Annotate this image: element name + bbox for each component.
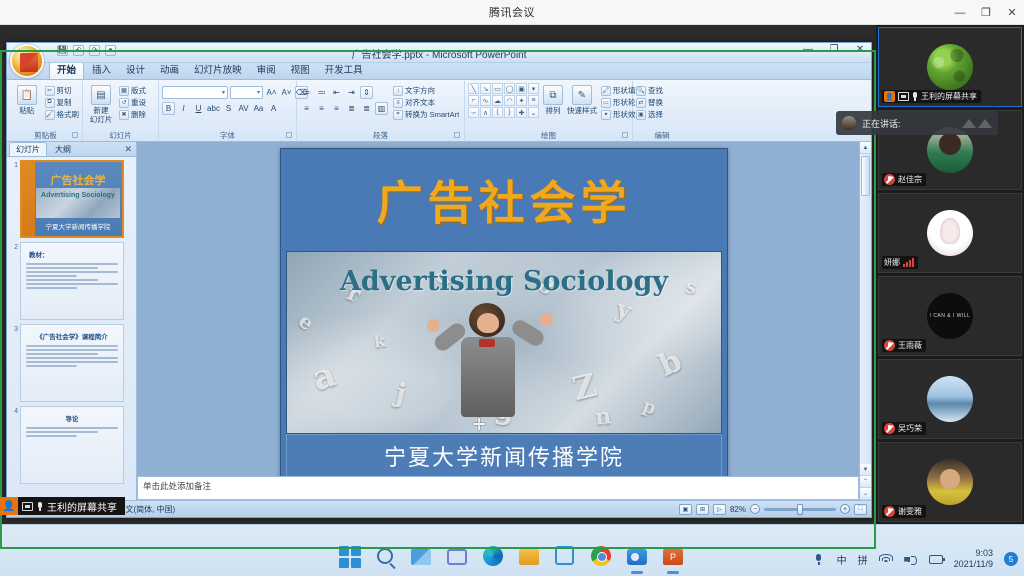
- scroll-down-button[interactable]: ▼: [860, 464, 871, 476]
- copy-label: 复制: [57, 97, 72, 108]
- thumbnail-item[interactable]: 1 广告社会学 Advertising Sociology 宁夏大学新闻传播学院: [9, 160, 134, 238]
- battery-button[interactable]: [929, 552, 943, 566]
- system-tray: 中 拼 9:03 2021/11/9 5: [812, 548, 1018, 570]
- shape-effects-icon: ✦: [601, 110, 611, 120]
- layout-label: 版式: [131, 85, 146, 96]
- wifi-button[interactable]: [879, 552, 893, 566]
- quick-access-toolbar: 💾 ↶ ↷ ▾: [57, 45, 116, 56]
- store-icon: [555, 546, 574, 565]
- participant-name-badge: 👤 王利的屏幕共享: [882, 90, 981, 103]
- signal-strength-icon: [903, 258, 914, 267]
- new-slide-button[interactable]: ▤ 新建 幻灯片: [86, 83, 116, 124]
- reset-icon: ↺: [119, 98, 129, 108]
- font-color-button[interactable]: A: [267, 102, 280, 115]
- thumb-title: 广告社会学: [38, 172, 118, 188]
- clipboard-group-text: 剪贴板: [34, 131, 57, 140]
- chevron-down-icon: ▾: [257, 89, 260, 96]
- scroll-up-button[interactable]: ▲: [860, 142, 871, 154]
- tab-slides[interactable]: 幻灯片: [9, 142, 47, 156]
- participant-name-badge: 谢雯雅: [882, 505, 926, 518]
- slide-subtitle-text: Advertising Sociology: [287, 266, 721, 297]
- align-right-button[interactable]: ≡: [330, 102, 343, 115]
- task-view-icon: [411, 549, 431, 565]
- participant-name: 妍娜: [884, 257, 900, 268]
- powerpoint-button[interactable]: P: [663, 546, 685, 568]
- slides-group-text: 幻灯片: [109, 131, 132, 140]
- tab-developer[interactable]: 开发工具: [318, 63, 370, 79]
- powerpoint-window: 广告社会学.pptx - Microsoft PowerPoint — ❐ ✕ …: [6, 42, 872, 518]
- delete-icon: ✖: [119, 110, 129, 120]
- participant-tile[interactable]: 👤 王利的屏幕共享: [878, 27, 1022, 107]
- mic-on-icon: [37, 502, 43, 511]
- tab-insert[interactable]: 插入: [85, 63, 118, 79]
- find-label: 查找: [648, 85, 663, 96]
- tencent-meeting-button[interactable]: [627, 546, 649, 568]
- font-size-combo[interactable]: ▾: [230, 86, 263, 99]
- fit-to-window-button[interactable]: ⛶: [854, 504, 867, 515]
- zoom-slider-knob[interactable]: [797, 504, 803, 515]
- font-name-combo[interactable]: ▾: [162, 86, 228, 99]
- shape-outline-icon: ▭: [601, 98, 611, 108]
- shapes-scroll-icon[interactable]: ≡: [528, 95, 539, 106]
- line-spacing-button[interactable]: ⇕: [360, 86, 373, 99]
- screen-share-icon: [898, 92, 909, 101]
- thumb-heading: 《广告社会学》课程简介: [21, 331, 123, 341]
- shape-plus-icon[interactable]: ✚: [516, 107, 527, 118]
- align-text-icon: ≡: [393, 98, 403, 108]
- shared-screen-stage: 广告社会学.pptx - Microsoft PowerPoint — ❐ ✕ …: [0, 25, 876, 524]
- previous-slide-button[interactable]: ⌃: [860, 476, 871, 488]
- align-left-button[interactable]: ≡: [300, 102, 313, 115]
- replace-label: 替换: [648, 97, 663, 108]
- office-logo-icon: [20, 53, 38, 72]
- slide-footer-placeholder[interactable]: 宁夏大学新闻传播学院: [286, 434, 722, 478]
- align-center-button[interactable]: ≡: [315, 102, 328, 115]
- meeting-maximize-button[interactable]: ❐: [980, 6, 992, 19]
- drawing-dialog-launcher-icon[interactable]: [622, 132, 628, 138]
- shape-arc-icon[interactable]: ◠: [504, 95, 515, 106]
- editing-group-label: 编辑: [636, 130, 688, 141]
- host-icon: 👤: [0, 497, 18, 515]
- format-painter-icon: 🖌: [45, 110, 55, 120]
- taskbar-icons: P: [339, 546, 685, 568]
- tencent-meeting-window: 腾讯会议 — ❐ ✕ 广告社会学.pptx - Microsoft PowerP…: [0, 0, 1024, 576]
- font-dialog-launcher-icon[interactable]: [286, 132, 292, 138]
- slideshow-button[interactable]: ▷: [713, 504, 726, 515]
- thumb-subtitle: Advertising Sociology: [36, 192, 120, 199]
- tab-design[interactable]: 设计: [119, 63, 152, 79]
- volume-button[interactable]: [904, 552, 918, 566]
- tencent-meeting-icon: [627, 549, 647, 565]
- windows-taskbar: 👤 王利的屏幕共享: [0, 524, 1024, 576]
- thumbnail-number: 2: [9, 242, 18, 320]
- windows-icon: [339, 546, 361, 568]
- text-direction-label: 文字方向: [405, 85, 435, 96]
- font-group-label: 字体: [162, 130, 293, 141]
- host-icon: 👤: [884, 91, 895, 102]
- ribbon: 📋 粘贴 ✂ 剪切 ⧉ 复制: [7, 80, 871, 142]
- powerpoint-icon: P: [663, 549, 683, 565]
- status-bar-right: ▣ ⊞ ▷ 82% − + ⛶: [679, 504, 867, 515]
- redo-icon[interactable]: ↷: [89, 45, 100, 56]
- layout-icon: ▦: [119, 86, 129, 96]
- participant-tile[interactable]: 谢雯雅: [878, 442, 1022, 522]
- slide-footer-text: 宁夏大学新闻传播学院: [384, 440, 624, 472]
- text-direction-button[interactable]: ↕ 文字方向: [393, 85, 459, 96]
- copy-icon: ⧉: [45, 98, 55, 108]
- close-panel-icon[interactable]: ✕: [124, 144, 132, 155]
- mic-icon: [815, 554, 822, 565]
- thumbnail-slide-2[interactable]: 教材：: [20, 242, 124, 320]
- powerpoint-workspace: 幻灯片 大纲 ✕ 1 广告社会学: [7, 142, 871, 500]
- edge-icon: [483, 546, 503, 566]
- shadow-button[interactable]: S: [222, 102, 235, 115]
- new-slide-icon: ▤: [91, 85, 111, 105]
- justify-button[interactable]: ≣: [345, 102, 358, 115]
- format-painter-button[interactable]: 🖌 格式刷: [45, 109, 80, 120]
- shape-arrow-icon[interactable]: ↘: [480, 83, 491, 94]
- ribbon-group-paragraph: ≔ ≕ ⇤ ⇥ ⇕ ≡ ≡ ≡ ≣: [297, 81, 465, 141]
- powerpoint-status-bar: 幻灯片 1/29 "Office 主题" 中文(简体, 中国) ▣ ⊞ ▷ 82…: [7, 500, 871, 517]
- tab-view[interactable]: 视图: [284, 63, 317, 79]
- ribbon-group-drawing: ╲ ↘ ▭ ◯ ▣ ▾ ⌐ ∿ ☁ ◠ ✦ ≡: [465, 81, 633, 141]
- ribbon-group-font: ▾ ▾ A˄ A˅ ⌫ B: [159, 81, 297, 141]
- cut-icon: ✂: [45, 86, 55, 96]
- quote-avatar: I CAN & I WILL: [927, 293, 973, 339]
- notes-placeholder-text: 单击此处添加备注: [143, 480, 211, 492]
- notes-pane[interactable]: 单击此处添加备注: [137, 476, 859, 500]
- current-slide[interactable]: 广告社会学 a r j q g 8 Z y b: [280, 148, 728, 485]
- format-painter-label: 格式刷: [57, 109, 80, 120]
- start-button[interactable]: [339, 546, 361, 568]
- meeting-window-controls: — ❐ ✕: [954, 0, 1018, 25]
- clipboard-dialog-launcher-icon[interactable]: [72, 132, 78, 138]
- slide-sorter-button[interactable]: ⊞: [696, 504, 709, 515]
- arrange-label: 排列: [546, 106, 561, 115]
- cut-label: 剪切: [57, 85, 72, 96]
- delete-label: 删除: [131, 109, 146, 120]
- shapes-gallery[interactable]: ╲ ↘ ▭ ◯ ▣ ▾ ⌐ ∿ ☁ ◠ ✦ ≡: [468, 83, 539, 118]
- powerpoint-window-controls: — ❐ ✕: [801, 44, 867, 55]
- thumbnail-item[interactable]: 3 《广告社会学》课程简介: [9, 324, 134, 402]
- powerpoint-document-title: 广告社会学.pptx - Microsoft PowerPoint: [7, 46, 871, 61]
- next-slide-button[interactable]: ⌄: [860, 488, 871, 500]
- search-icon: [377, 548, 393, 564]
- scrollbar-bottom-buttons: ▼ ⌃ ⌄: [860, 464, 871, 500]
- participant-name-badge: 妍娜: [882, 256, 918, 269]
- slide-vertical-scrollbar[interactable]: ▲ ▼ ⌃ ⌄: [859, 142, 871, 500]
- search-icon: 🔍: [636, 86, 646, 96]
- slides-group-label: 幻灯片: [86, 130, 155, 141]
- participant-name: 赵佳宗: [898, 174, 922, 185]
- convert-smartart-label: 转换为 SmartArt: [405, 109, 459, 120]
- participant-name-badge: 王雨薇: [882, 339, 926, 352]
- language-indicator[interactable]: 中文(简体, 中国): [117, 504, 175, 515]
- mic-muted-icon: [884, 340, 895, 351]
- shape-brace-right-icon[interactable]: ): [504, 107, 515, 118]
- thumbnail-slide-1[interactable]: 广告社会学 Advertising Sociology 宁夏大学新闻传播学院: [20, 160, 124, 238]
- zoom-level: 82%: [730, 505, 746, 514]
- normal-view-button[interactable]: ▣: [679, 504, 692, 515]
- shape-oval-icon[interactable]: ◯: [504, 83, 515, 94]
- screen-share-indicator[interactable]: 👤 王利的屏幕共享: [0, 497, 125, 515]
- participant-tile[interactable]: I CAN & I WILL 王雨薇: [878, 276, 1022, 356]
- clock-date: 2021/11/9: [954, 559, 993, 570]
- mic-on-icon: [912, 92, 918, 101]
- participant-tile[interactable]: 吴巧荣: [878, 359, 1022, 439]
- file-explorer-icon: [519, 549, 539, 565]
- shape-fill-icon: 🖍: [601, 86, 611, 96]
- meeting-app-title: 腾讯会议: [489, 4, 535, 20]
- numbering-button[interactable]: ≕: [315, 86, 328, 99]
- speaking-toast: 正在讲话:: [836, 111, 998, 135]
- speaking-indicator-icon: [962, 119, 992, 128]
- thumb-body: 教材：: [21, 243, 123, 319]
- text-direction-icon: ↕: [393, 86, 403, 96]
- battery-icon: [929, 555, 943, 564]
- slide-thumbnail-panel: 幻灯片 大纲 ✕ 1 广告社会学: [7, 142, 137, 500]
- replace-icon: ⇄: [636, 98, 646, 108]
- change-case-button[interactable]: Aa: [252, 102, 265, 115]
- teams-chat-icon: [447, 549, 467, 565]
- slide-title-text: 广告社会学: [377, 167, 632, 233]
- thumb-footer: 宁夏大学新闻传播学院: [36, 221, 120, 231]
- reset-label: 重设: [131, 97, 146, 108]
- cut-button[interactable]: ✂ 剪切: [45, 85, 80, 96]
- shape-elbow-icon[interactable]: ⌐: [468, 95, 479, 106]
- paste-label: 粘贴: [19, 106, 34, 115]
- reset-button[interactable]: ↺ 重设: [119, 97, 146, 108]
- participant-tile[interactable]: 妍娜: [878, 193, 1022, 273]
- ime-mode-indicator[interactable]: 中: [837, 552, 847, 567]
- thumbnail-item[interactable]: 2 教材：: [9, 242, 134, 320]
- drawing-group-text: 绘图: [541, 131, 556, 140]
- shape-line-icon[interactable]: ╲: [468, 83, 479, 94]
- store-button[interactable]: [555, 546, 577, 568]
- new-slide-label: 新建 幻灯片: [90, 106, 113, 124]
- thumb-lines: [26, 427, 118, 437]
- ribbon-group-clipboard: 📋 粘贴 ✂ 剪切 ⧉ 复制: [9, 81, 83, 141]
- dress-avatar: [927, 210, 973, 256]
- paste-icon: 📋: [17, 85, 37, 105]
- wifi-icon: [879, 554, 893, 565]
- edge-button[interactable]: [483, 546, 505, 568]
- arrange-button[interactable]: ⧉ 排列: [543, 83, 563, 115]
- clipboard-group-label: 剪贴板: [12, 130, 79, 141]
- shape-freeform-icon[interactable]: ∽: [468, 107, 479, 118]
- ppt-maximize-button[interactable]: ❐: [827, 44, 841, 55]
- shape-rect-icon[interactable]: ▭: [492, 83, 503, 94]
- editing-group-text: 编辑: [655, 131, 670, 140]
- clock-time: 9:03: [954, 548, 993, 559]
- speaker-icon: [904, 554, 917, 565]
- shape-brace-left-icon[interactable]: (: [492, 107, 503, 118]
- quick-styles-icon: ✎: [572, 85, 592, 105]
- increase-font-size-icon[interactable]: A˄: [265, 86, 278, 99]
- speaking-toast-text: 正在讲话:: [862, 117, 901, 130]
- search-button[interactable]: [375, 546, 397, 568]
- thumb-heading: 导论: [21, 413, 123, 423]
- decrease-indent-button[interactable]: ⇤: [330, 86, 343, 99]
- slide-editing-area[interactable]: 广告社会学 a r j q g 8 Z y b: [137, 142, 871, 500]
- slide-image[interactable]: a r j q g 8 Z y b s e k: [286, 251, 722, 434]
- bullets-button[interactable]: ≔: [300, 86, 313, 99]
- increase-indent-button[interactable]: ⇥: [345, 86, 358, 99]
- arrange-icon: ⧉: [543, 85, 563, 105]
- italic-button[interactable]: I: [177, 102, 190, 115]
- thumb-accent-strip: [22, 162, 35, 236]
- tab-home[interactable]: 开始: [49, 62, 84, 79]
- thumb-body: 《广告社会学》课程简介: [21, 325, 123, 401]
- thumbnail-list[interactable]: 1 广告社会学 Advertising Sociology 宁夏大学新闻传播学院: [7, 157, 136, 500]
- save-icon[interactable]: 💾: [57, 45, 68, 56]
- slide-title-placeholder[interactable]: 广告社会学: [287, 153, 721, 247]
- participant-name-badge: 吴巧荣: [882, 422, 926, 435]
- chrome-icon: [591, 546, 611, 566]
- sky-avatar: [927, 376, 973, 422]
- participant-name: 王雨薇: [898, 340, 922, 351]
- tab-outline[interactable]: 大纲: [49, 143, 77, 156]
- undo-icon[interactable]: ↶: [73, 45, 84, 56]
- quick-styles-button[interactable]: ✎ 快速样式: [567, 83, 597, 115]
- mic-muted-icon: [884, 174, 895, 185]
- select-button[interactable]: ▣ 选择: [636, 109, 663, 120]
- quick-styles-label: 快速样式: [567, 106, 597, 115]
- thumb-lines: [26, 263, 118, 289]
- participant-name-badge: 赵佳宗: [882, 173, 926, 186]
- ppt-close-button[interactable]: ✕: [853, 44, 867, 55]
- thumbnail-slide-4[interactable]: 导论: [20, 406, 124, 484]
- ribbon-group-editing: 🔍 查找 ⇄ 替换 ▣ 选择: [633, 81, 691, 141]
- paste-button[interactable]: 📋 粘贴: [12, 83, 42, 115]
- thumbnail-number: 4: [9, 406, 18, 484]
- participant-name: 吴巧荣: [898, 423, 922, 434]
- scrollbar-thumb[interactable]: [861, 156, 870, 196]
- strikethrough-button[interactable]: abc: [207, 102, 220, 115]
- thumbnail-item[interactable]: 4 导论: [9, 406, 134, 484]
- font-group-text: 字体: [220, 131, 235, 140]
- customize-qat-icon[interactable]: ▾: [105, 45, 116, 56]
- clock[interactable]: 9:03 2021/11/9: [954, 548, 993, 570]
- man-avatar: [927, 459, 973, 505]
- slide-panel-tab-bar: 幻灯片 大纲 ✕: [7, 142, 136, 157]
- select-icon: ▣: [636, 110, 646, 120]
- ribbon-tab-bar: 开始 插入 设计 动画 幻灯片放映 审阅 视图 开发工具: [7, 63, 871, 80]
- align-text-label: 对齐文本: [405, 97, 435, 108]
- bold-button[interactable]: B: [162, 102, 175, 115]
- thumb-lines: [26, 345, 118, 367]
- paragraph-dialog-launcher-icon[interactable]: [454, 132, 460, 138]
- thumb-body: 导论: [21, 407, 123, 483]
- chrome-button[interactable]: [591, 546, 613, 568]
- powerpoint-titlebar: 广告社会学.pptx - Microsoft PowerPoint — ❐ ✕ …: [7, 43, 871, 63]
- desktop-screen: 腾讯会议 — ❐ ✕ 广告社会学.pptx - Microsoft PowerP…: [0, 0, 1024, 576]
- columns-button[interactable]: ▥: [375, 102, 388, 115]
- share-indicator-label: 王利的屏幕共享: [47, 499, 117, 514]
- tab-animation[interactable]: 动画: [153, 63, 186, 79]
- smartart-icon: ⌗: [393, 110, 403, 120]
- character-spacing-button[interactable]: AV: [237, 102, 250, 115]
- drawing-group-label: 绘图: [468, 130, 629, 141]
- layout-button[interactable]: ▦ 版式: [119, 85, 146, 96]
- meeting-titlebar: 腾讯会议 — ❐ ✕: [0, 0, 1024, 25]
- ppt-minimize-button[interactable]: —: [801, 44, 815, 55]
- meeting-minimize-button[interactable]: —: [954, 7, 966, 19]
- paragraph-group-label: 段落: [300, 130, 461, 141]
- underline-button[interactable]: U: [192, 102, 205, 115]
- speaker-avatar: [842, 116, 856, 130]
- screen-share-icon: [22, 502, 33, 511]
- select-label: 选择: [648, 109, 663, 120]
- participant-name: 谢雯雅: [898, 506, 922, 517]
- office-orb-button[interactable]: [10, 44, 44, 78]
- shape-angle-icon[interactable]: ∧: [480, 107, 491, 118]
- zoom-slider[interactable]: [764, 508, 836, 511]
- thumbnail-number: 3: [9, 324, 18, 402]
- align-text-button[interactable]: ≡ 对齐文本: [393, 97, 459, 108]
- microphone-tray-button[interactable]: [812, 552, 826, 566]
- mic-muted-icon: [884, 506, 895, 517]
- convert-smartart-button[interactable]: ⌗ 转换为 SmartArt: [393, 109, 459, 120]
- thumbnail-slide-3[interactable]: 《广告社会学》课程简介: [20, 324, 124, 402]
- replace-button[interactable]: ⇄ 替换: [636, 97, 663, 108]
- shape-textbox-icon[interactable]: ▣: [516, 83, 527, 94]
- shape-callout-icon[interactable]: ☁: [492, 95, 503, 106]
- decrease-font-size-icon[interactable]: A˅: [280, 86, 293, 99]
- mic-muted-icon: [884, 423, 895, 434]
- participant-strip[interactable]: 👤 王利的屏幕共享 赵佳宗 妍娜: [876, 25, 1024, 524]
- file-explorer-button[interactable]: [519, 546, 541, 568]
- chat-button[interactable]: [447, 546, 469, 568]
- copy-button[interactable]: ⧉ 复制: [45, 97, 80, 108]
- chevron-down-icon: ▾: [222, 89, 225, 96]
- paragraph-group-text: 段落: [373, 131, 388, 140]
- task-view-button[interactable]: [411, 546, 433, 568]
- shapes-expand-icon[interactable]: ⌄: [528, 107, 539, 118]
- person-illustration: [439, 299, 535, 431]
- find-button[interactable]: 🔍 查找: [636, 85, 663, 96]
- participant-name: 王利的屏幕共享: [921, 91, 977, 102]
- zoom-in-button[interactable]: +: [840, 504, 850, 514]
- shape-curve-icon[interactable]: ∿: [480, 95, 491, 106]
- delete-slide-button[interactable]: ✖ 删除: [119, 109, 146, 120]
- broccoli-avatar: [927, 44, 973, 90]
- zoom-out-button[interactable]: −: [750, 504, 760, 514]
- tab-review[interactable]: 审阅: [250, 63, 283, 79]
- shapes-more-icon[interactable]: ▾: [528, 83, 539, 94]
- avatar-text: I CAN & I WILL: [930, 312, 971, 320]
- tab-slideshow[interactable]: 幻灯片放映: [187, 63, 249, 79]
- ime-pinyin-indicator[interactable]: 拼: [858, 552, 868, 567]
- ribbon-group-slides: ▤ 新建 幻灯片 ▦ 版式 ↺ 重设: [83, 81, 159, 141]
- notification-badge[interactable]: 5: [1004, 552, 1018, 566]
- thumb-heading: 教材：: [29, 249, 123, 259]
- thumbnail-number: 1: [9, 160, 18, 238]
- distribute-button[interactable]: ≣: [360, 102, 373, 115]
- shape-star-icon[interactable]: ✦: [516, 95, 527, 106]
- meeting-close-button[interactable]: ✕: [1006, 6, 1018, 19]
